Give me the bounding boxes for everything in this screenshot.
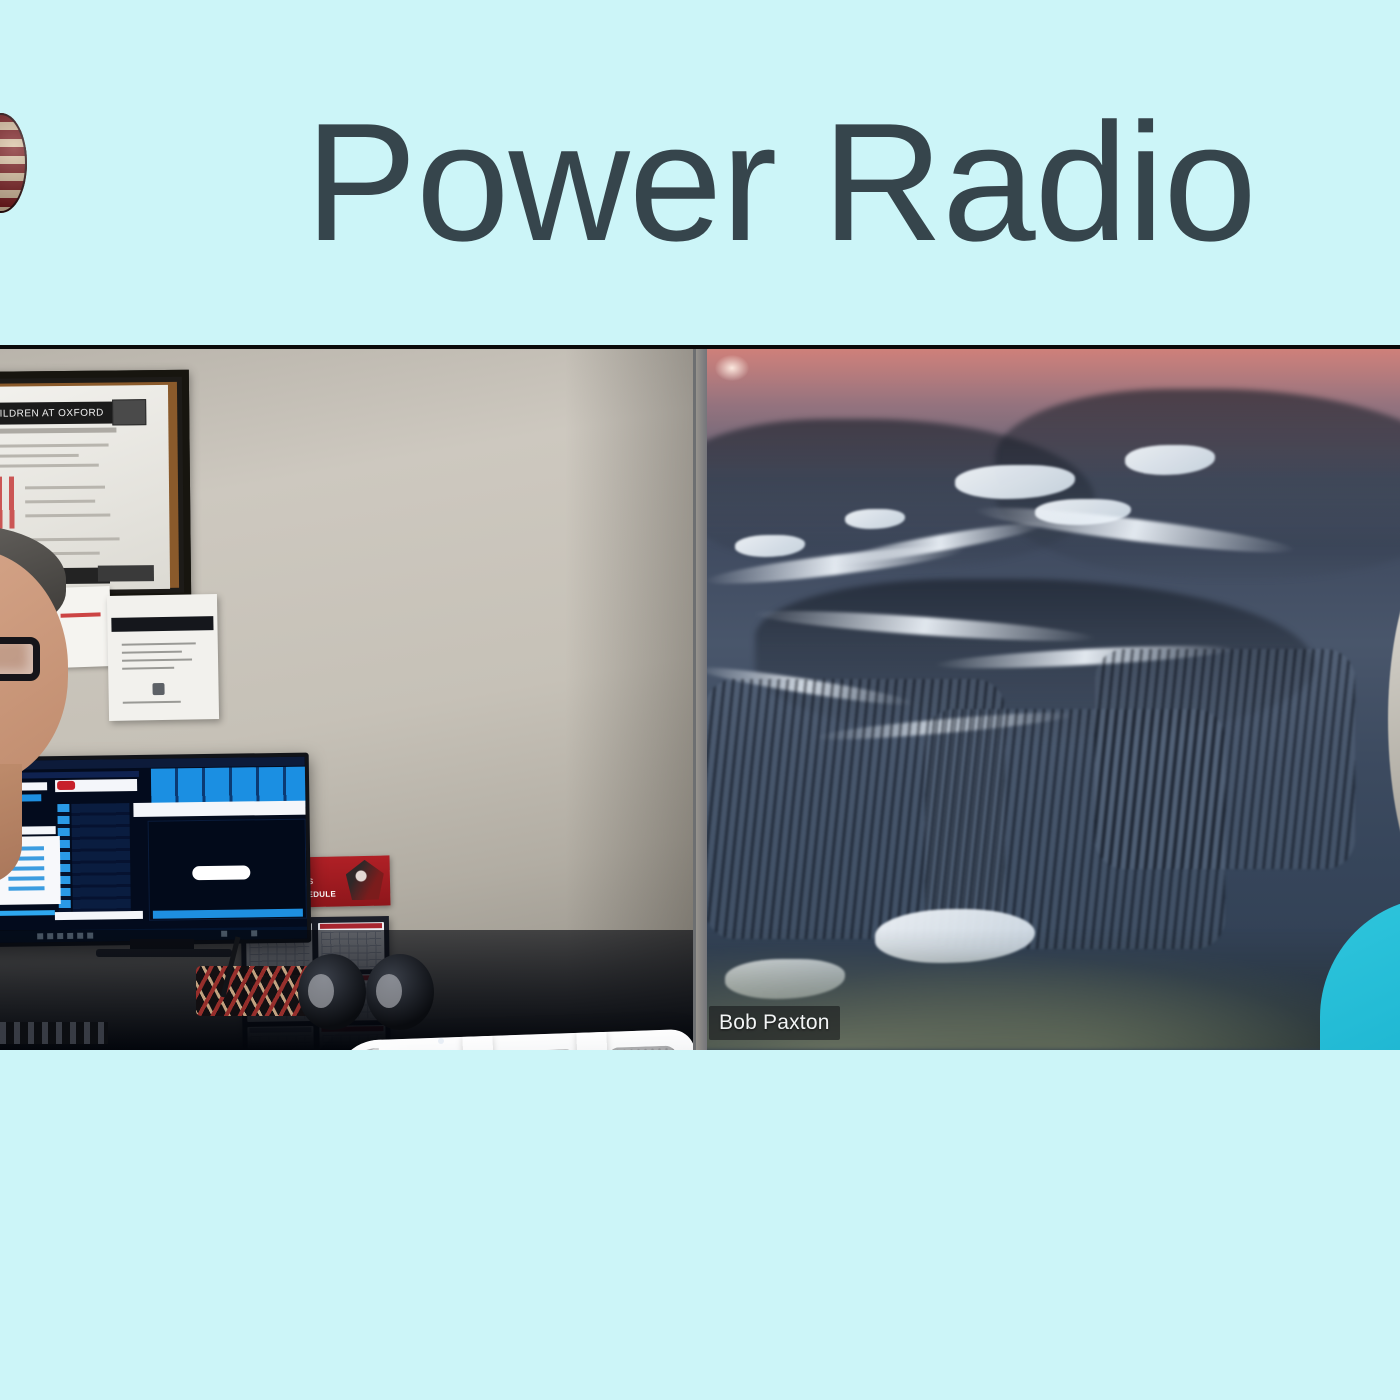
bottom-background xyxy=(0,1050,1400,1400)
page-title: Power Radio xyxy=(305,92,1256,272)
certificate-heading: FOR CHILDREN AT OXFORD xyxy=(0,401,117,425)
screenshot-root: Power Radio FOR CHILDREN AT OXFORD xyxy=(0,0,1400,1400)
mixing-console xyxy=(0,1022,108,1044)
sun-flare xyxy=(715,355,749,381)
team-mascot-icon xyxy=(346,860,385,901)
participant-name-label: Bob Paxton xyxy=(709,1006,840,1040)
clipboard xyxy=(107,594,219,721)
title-banner: Power Radio xyxy=(0,0,1400,348)
glacier-virtual-background xyxy=(695,349,1400,1050)
camera-lens-reflection xyxy=(438,1038,444,1044)
video-pane-left[interactable]: FOR CHILDREN AT OXFORD xyxy=(0,349,695,1050)
video-pane-right[interactable]: Bob Paxton xyxy=(695,349,1400,1050)
headphone-cup-left xyxy=(298,954,366,1030)
video-call-area: FOR CHILDREN AT OXFORD xyxy=(0,349,1400,1050)
headphone-cup-right xyxy=(366,954,434,1030)
pane-divider xyxy=(693,349,696,1050)
circular-striped-logo-icon xyxy=(0,113,27,213)
pane-left-edge xyxy=(695,349,707,1050)
glasses-left-participant xyxy=(0,637,40,681)
computer-monitor xyxy=(0,753,311,948)
